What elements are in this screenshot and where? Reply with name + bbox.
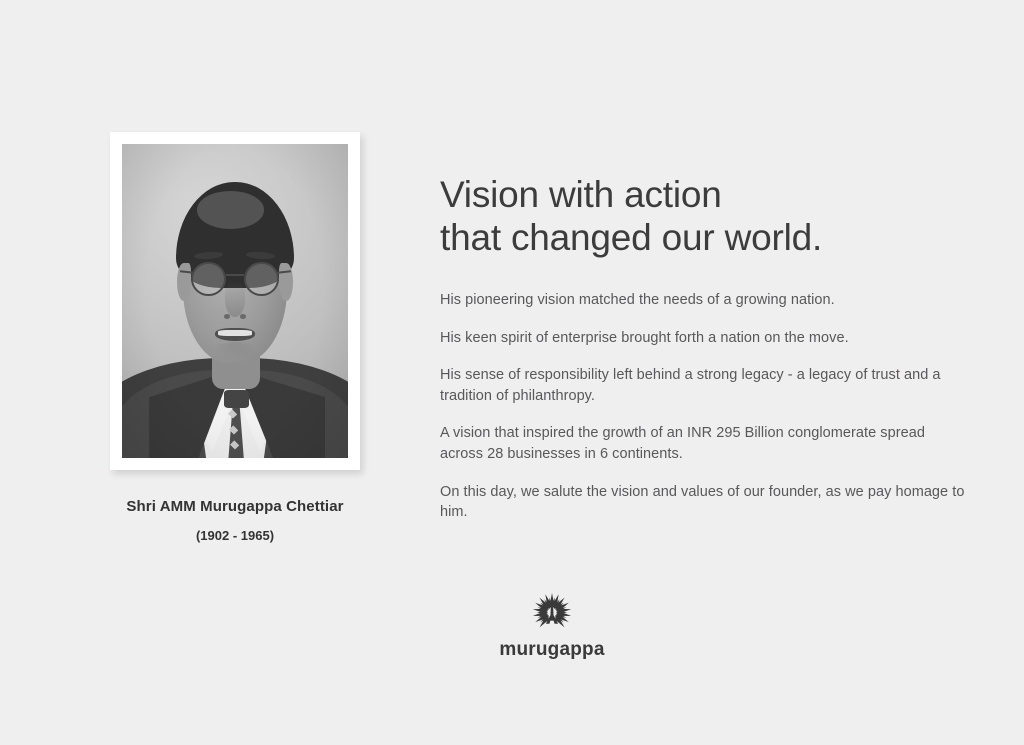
founder-portrait-photo bbox=[122, 144, 348, 458]
headline-line-2: that changed our world. bbox=[440, 216, 970, 260]
paragraph-5: On this day, we salute the vision and va… bbox=[440, 482, 970, 523]
body-copy: His pioneering vision matched the needs … bbox=[440, 290, 970, 523]
murugappa-sunburst-icon bbox=[526, 592, 578, 636]
portrait-block: Shri AMM Murugappa Chettiar (1902 - 1965… bbox=[110, 132, 360, 543]
paragraph-2: His keen spirit of enterprise brought fo… bbox=[440, 328, 970, 349]
paragraph-3: His sense of responsibility left behind … bbox=[440, 365, 960, 406]
founder-years: (1902 - 1965) bbox=[110, 528, 360, 543]
founder-name: Shri AMM Murugappa Chettiar bbox=[110, 498, 360, 515]
paragraph-4: A vision that inspired the growth of an … bbox=[440, 423, 960, 464]
poster-canvas: Shri AMM Murugappa Chettiar (1902 - 1965… bbox=[0, 0, 1024, 745]
paragraph-1: His pioneering vision matched the needs … bbox=[440, 290, 970, 311]
portrait-caption: Shri AMM Murugappa Chettiar (1902 - 1965… bbox=[110, 498, 360, 543]
headline-line-1: Vision with action bbox=[440, 173, 970, 217]
murugappa-logo: murugappa bbox=[497, 592, 607, 661]
page-title: Vision with action that changed our worl… bbox=[440, 173, 970, 260]
photo-frame bbox=[110, 132, 360, 470]
murugappa-wordmark: murugappa bbox=[497, 639, 607, 661]
content-column: Vision with action that changed our worl… bbox=[440, 148, 970, 523]
